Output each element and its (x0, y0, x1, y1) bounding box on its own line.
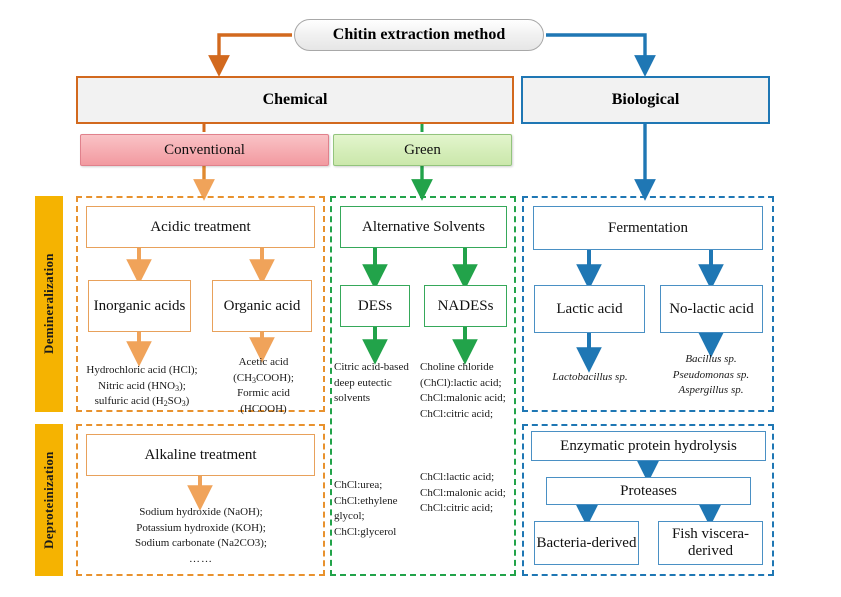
node-bacteria-derived[interactable]: Bacteria-derived (534, 521, 639, 565)
node-alternative-solvents[interactable]: Alternative Solvents (340, 206, 507, 248)
text-organic-acid-examples: Acetic acid(CH3COOH);Formic acid(HCOOH) (212, 355, 315, 417)
node-inorganic-acids[interactable]: Inorganic acids (88, 280, 191, 332)
node-enzymatic-protein-hydrolysis[interactable]: Enzymatic protein hydrolysis (531, 431, 766, 461)
subcategory-green[interactable]: Green (333, 134, 512, 166)
category-chemical[interactable]: Chemical (76, 76, 514, 124)
text-lactic-organisms: Lactobacillus sp. (534, 370, 646, 386)
node-nadess[interactable]: NADESs (424, 285, 507, 327)
text-alkaline-examples: Sodium hydroxide (NaOH);Potassium hydrox… (86, 505, 316, 567)
subcategory-conventional[interactable]: Conventional (80, 134, 329, 166)
node-fish-viscera-derived[interactable]: Fish viscera-derived (658, 521, 763, 565)
text-no-lactic-organisms: Bacillus sp.Pseudomonas sp.Aspergillus s… (655, 352, 767, 399)
node-no-lactic-acid[interactable]: No-lactic acid (660, 285, 763, 333)
stage-label-deproteinization: Deproteinization (35, 424, 63, 576)
text-nades-examples-lower: ChCl:lactic acid;ChCl:malonic acid;ChCl:… (420, 470, 518, 517)
text-des-examples-lower: ChCl:urea;ChCl:ethylene glycol;ChCl:glyc… (334, 478, 416, 540)
diagram-title: Chitin extraction method (294, 19, 544, 51)
text-inorganic-acid-examples: Hydrochloric acid (HCl);Nitric acid (HNO… (80, 363, 204, 410)
stage-label-demineralization: Demineralization (35, 196, 63, 412)
category-biological[interactable]: Biological (521, 76, 770, 124)
node-organic-acid[interactable]: Organic acid (212, 280, 312, 332)
node-fermentation[interactable]: Fermentation (533, 206, 763, 250)
flowchart-canvas: Chitin extraction method Chemical Biolog… (0, 0, 841, 597)
node-lactic-acid[interactable]: Lactic acid (534, 285, 645, 333)
text-des-examples-upper: Citric acid-based deep eutectic solvents (334, 360, 416, 407)
node-proteases[interactable]: Proteases (546, 477, 751, 505)
text-nades-examples-upper: Choline chloride (ChCl):lactic acid; ChC… (420, 360, 515, 422)
node-alkaline-treatment[interactable]: Alkaline treatment (86, 434, 315, 476)
node-acidic-treatment[interactable]: Acidic treatment (86, 206, 315, 248)
node-dess[interactable]: DESs (340, 285, 410, 327)
